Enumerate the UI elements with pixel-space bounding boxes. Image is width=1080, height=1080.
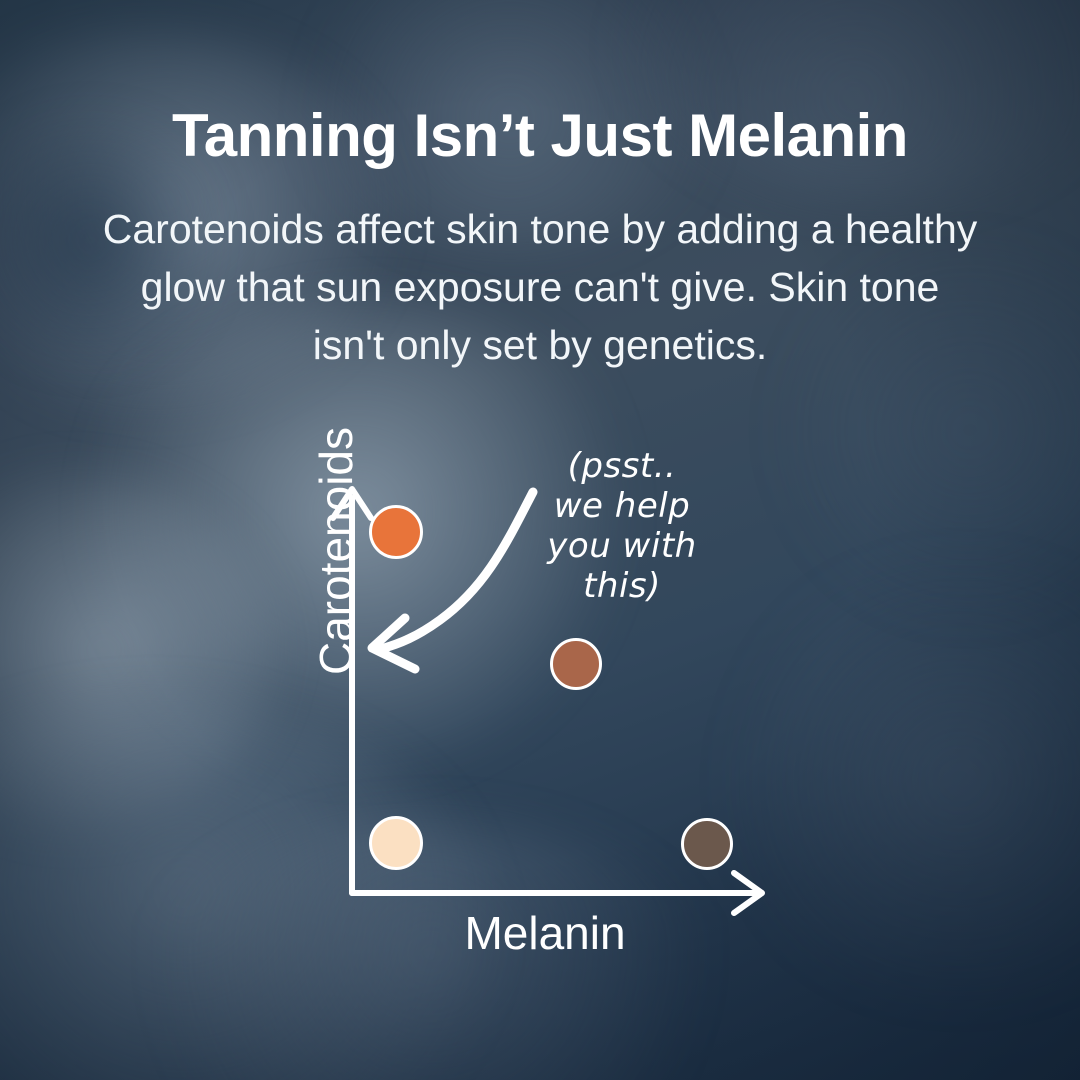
data-point-dot[interactable] bbox=[550, 638, 602, 690]
annotation-line: this) bbox=[522, 566, 722, 606]
x-axis-label: Melanin bbox=[390, 906, 700, 960]
data-point-dot[interactable] bbox=[681, 818, 733, 870]
y-axis-label: Carotenoids bbox=[309, 401, 363, 701]
data-point-dot[interactable] bbox=[369, 505, 423, 559]
data-point-dot[interactable] bbox=[369, 816, 423, 870]
annotation-line: you with bbox=[522, 526, 722, 566]
annotation-line: (psst.. bbox=[522, 446, 722, 486]
poster-canvas: Tanning Isn’t Just Melanin Carotenoids a… bbox=[0, 0, 1080, 1080]
annotation-line: we help bbox=[522, 486, 722, 526]
handwritten-annotation: (psst.. we help you with this) bbox=[522, 446, 722, 606]
